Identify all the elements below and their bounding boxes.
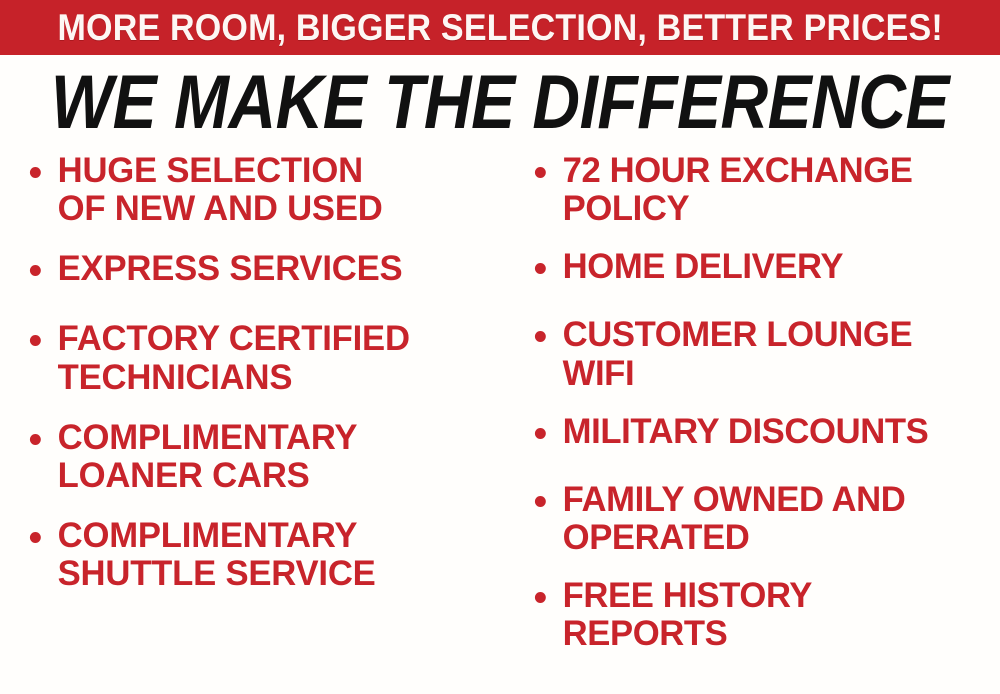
benefit-item-label: HUGE SELECTION OF NEW AND USED	[58, 152, 501, 228]
benefit-item-label: 72 HOUR EXCHANGE POLICY	[563, 152, 996, 228]
benefits-column-right: 72 HOUR EXCHANGE POLICYHOME DELIVERYCUST…	[505, 152, 1000, 694]
page-title: WE MAKE THE DIFFERENCE	[51, 64, 949, 140]
bullet-dot-icon	[535, 428, 546, 439]
benefit-item-label: FAMILY OWNED AND OPERATED	[563, 481, 996, 557]
benefits-list-right: 72 HOUR EXCHANGE POLICYHOME DELIVERYCUST…	[527, 152, 1000, 653]
benefit-list-item: COMPLIMENTARY SHUTTLE SERVICE	[22, 517, 500, 593]
benefit-item-label: FACTORY CERTIFIED TECHNICIANS	[58, 320, 501, 396]
benefit-list-item: FAMILY OWNED AND OPERATED	[527, 481, 995, 557]
bullet-dot-icon	[535, 592, 546, 603]
benefit-list-item: COMPLIMENTARY LOANER CARS	[22, 419, 500, 495]
bullet-dot-icon	[535, 496, 546, 507]
benefit-list-item: EXPRESS SERVICES	[22, 250, 500, 288]
benefit-item-label: CUSTOMER LOUNGE WIFI	[563, 316, 996, 392]
benefit-list-item: FREE HISTORY REPORTS	[527, 577, 995, 653]
benefits-list-left: HUGE SELECTION OF NEW AND USEDEXPRESS SE…	[22, 152, 505, 593]
benefit-item-label: HOME DELIVERY	[563, 248, 996, 286]
benefit-item-label: MILITARY DISCOUNTS	[563, 413, 996, 451]
benefits-column-left: HUGE SELECTION OF NEW AND USEDEXPRESS SE…	[0, 152, 505, 694]
benefit-item-label: EXPRESS SERVICES	[58, 250, 501, 288]
bullet-dot-icon	[30, 335, 41, 346]
benefit-list-item: FACTORY CERTIFIED TECHNICIANS	[22, 320, 500, 396]
benefit-item-label: COMPLIMENTARY LOANER CARS	[58, 419, 501, 495]
benefit-list-item: MILITARY DISCOUNTS	[527, 413, 995, 451]
benefit-list-item: HOME DELIVERY	[527, 248, 995, 286]
bullet-dot-icon	[535, 263, 546, 274]
benefit-item-label: COMPLIMENTARY SHUTTLE SERVICE	[58, 517, 501, 593]
headline-container: WE MAKE THE DIFFERENCE	[0, 66, 1000, 138]
benefit-list-item: HUGE SELECTION OF NEW AND USED	[22, 152, 500, 228]
bullet-dot-icon	[30, 167, 41, 178]
bullet-dot-icon	[30, 265, 41, 276]
banner-headline-text: MORE ROOM, BIGGER SELECTION, BETTER PRIC…	[57, 9, 942, 46]
bullet-dot-icon	[535, 167, 546, 178]
bullet-dot-icon	[30, 532, 41, 543]
bullet-dot-icon	[535, 331, 546, 342]
benefit-list-item: CUSTOMER LOUNGE WIFI	[527, 316, 995, 392]
benefits-columns: HUGE SELECTION OF NEW AND USEDEXPRESS SE…	[0, 152, 1000, 694]
bullet-dot-icon	[30, 434, 41, 445]
benefit-item-label: FREE HISTORY REPORTS	[563, 577, 996, 653]
promotional-poster: MORE ROOM, BIGGER SELECTION, BETTER PRIC…	[0, 0, 1000, 694]
top-banner: MORE ROOM, BIGGER SELECTION, BETTER PRIC…	[0, 0, 1000, 55]
benefit-list-item: 72 HOUR EXCHANGE POLICY	[527, 152, 995, 228]
